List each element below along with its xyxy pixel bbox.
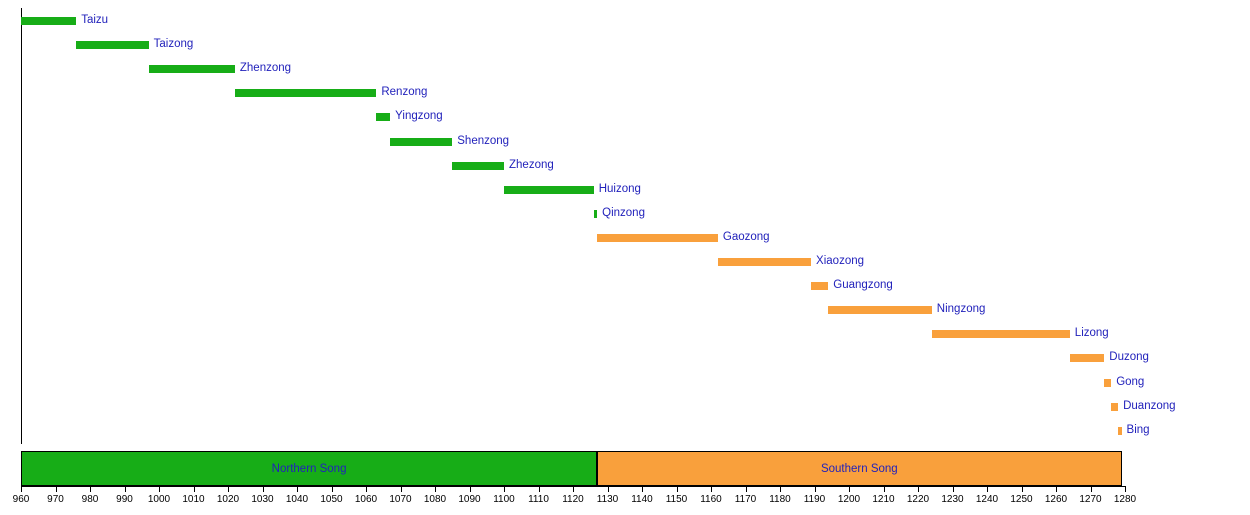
reign-row: Duzong: [0, 349, 1250, 367]
reign-label-qinzong: Qinzong: [602, 206, 645, 221]
x-axis-tick: [470, 486, 471, 492]
reign-label-gaozong: Gaozong: [723, 230, 770, 245]
reign-label-shenzong: Shenzong: [457, 134, 509, 149]
x-axis-tick: [435, 486, 436, 492]
reign-label-duanzong: Duanzong: [1123, 399, 1175, 414]
reign-label-xiaozong: Xiaozong: [816, 254, 864, 269]
reign-row: Gaozong: [0, 229, 1250, 247]
reign-bar-qinzong[interactable]: [594, 210, 597, 218]
reign-bar-gong[interactable]: [1104, 379, 1111, 387]
reign-label-lizong: Lizong: [1075, 326, 1109, 341]
reign-row: Ningzong: [0, 301, 1250, 319]
x-axis-tick: [159, 486, 160, 492]
x-axis-tick: [987, 486, 988, 492]
reign-label-zhenzong: Zhenzong: [240, 61, 291, 76]
x-axis-tick: [228, 486, 229, 492]
x-axis-tick: [1125, 486, 1126, 492]
x-axis-tick: [642, 486, 643, 492]
x-axis-tick: [746, 486, 747, 492]
reign-label-yingzong: Yingzong: [395, 109, 443, 124]
x-axis-tick-label: 960: [13, 494, 30, 505]
x-axis-tick: [1056, 486, 1057, 492]
reign-label-gong: Gong: [1116, 375, 1144, 390]
x-axis-tick: [194, 486, 195, 492]
reign-row: Renzong: [0, 84, 1250, 102]
reign-label-guangzong: Guangzong: [833, 278, 892, 293]
reign-bar-taizu[interactable]: [21, 17, 76, 25]
timeline-chart: 9609709809901000101010201030104010501060…: [0, 0, 1250, 515]
x-axis-tick-label: 1140: [631, 494, 653, 505]
plot-area: 9609709809901000101010201030104010501060…: [0, 0, 1250, 515]
x-axis-tick-label: 1230: [941, 494, 963, 505]
x-axis-tick: [849, 486, 850, 492]
reign-row: Zhenzong: [0, 60, 1250, 78]
x-axis-tick-label: 1260: [1045, 494, 1067, 505]
x-axis-tick: [366, 486, 367, 492]
reign-label-renzong: Renzong: [381, 85, 427, 100]
x-axis-tick: [677, 486, 678, 492]
x-axis-tick-label: 1060: [355, 494, 377, 505]
x-axis-tick-label: 990: [116, 494, 133, 505]
reign-label-ningzong: Ningzong: [937, 302, 986, 317]
x-axis-tick-label: 1220: [907, 494, 929, 505]
reign-row: Shenzong: [0, 133, 1250, 151]
x-axis-tick-label: 1280: [1114, 494, 1136, 505]
x-axis-tick-label: 1120: [562, 494, 584, 505]
x-axis-tick-label: 1040: [286, 494, 308, 505]
x-axis-tick-label: 1170: [735, 494, 757, 505]
x-axis-tick-label: 1240: [976, 494, 998, 505]
reign-bar-shenzong[interactable]: [390, 138, 452, 146]
x-axis-tick-label: 1110: [528, 494, 549, 505]
reign-label-zhezong: Zhezong: [509, 158, 554, 173]
x-axis-tick-label: 1250: [1010, 494, 1032, 505]
reign-label-bing: Bing: [1127, 423, 1150, 438]
x-axis-tick-label: 1020: [217, 494, 239, 505]
x-axis-tick-label: 1100: [493, 494, 515, 505]
reign-label-taizong: Taizong: [154, 37, 194, 52]
reign-bar-yingzong[interactable]: [376, 113, 390, 121]
dynasty-band-northern-song[interactable]: Northern Song: [21, 451, 597, 486]
reign-bar-xiaozong[interactable]: [718, 258, 811, 266]
x-axis-tick: [1022, 486, 1023, 492]
x-axis-tick-label: 1070: [389, 494, 411, 505]
reign-bar-taizong[interactable]: [76, 41, 148, 49]
reign-bar-renzong[interactable]: [235, 89, 376, 97]
x-axis-tick: [1091, 486, 1092, 492]
x-axis-tick-label: 1130: [597, 494, 619, 505]
reign-bar-huizong[interactable]: [504, 186, 594, 194]
x-axis-tick-label: 1050: [320, 494, 342, 505]
x-axis-tick: [401, 486, 402, 492]
dynasty-band-southern-song[interactable]: Southern Song: [597, 451, 1121, 486]
x-axis-tick: [504, 486, 505, 492]
reign-bar-gaozong[interactable]: [597, 234, 718, 242]
reign-row: Yingzong: [0, 108, 1250, 126]
x-axis-tick-label: 1190: [804, 494, 826, 505]
x-axis-tick-label: 980: [82, 494, 99, 505]
x-axis-tick: [711, 486, 712, 492]
reign-row: Duanzong: [0, 398, 1250, 416]
x-axis-tick: [56, 486, 57, 492]
reign-row: Xiaozong: [0, 253, 1250, 271]
reign-row: Gong: [0, 374, 1250, 392]
x-axis-tick: [297, 486, 298, 492]
dynasty-band-label: Southern Song: [821, 463, 898, 475]
x-axis-tick: [608, 486, 609, 492]
reign-bar-duanzong[interactable]: [1111, 403, 1118, 411]
x-axis-tick: [125, 486, 126, 492]
x-axis-tick-label: 1160: [700, 494, 722, 505]
reign-row: Guangzong: [0, 277, 1250, 295]
x-axis-tick: [918, 486, 919, 492]
x-axis-tick: [539, 486, 540, 492]
x-axis-tick-label: 1200: [838, 494, 860, 505]
reign-row: Zhezong: [0, 157, 1250, 175]
reign-bar-zhezong[interactable]: [452, 162, 504, 170]
reign-row: Huizong: [0, 181, 1250, 199]
reign-row: Qinzong: [0, 205, 1250, 223]
x-axis-tick-label: 1270: [1079, 494, 1101, 505]
x-axis-tick: [21, 486, 22, 492]
x-axis-tick: [884, 486, 885, 492]
x-axis-tick: [332, 486, 333, 492]
reign-row: Taizu: [0, 12, 1250, 30]
reign-bar-duzong[interactable]: [1070, 354, 1105, 362]
reign-row: Taizong: [0, 36, 1250, 54]
x-axis-tick-label: 1000: [148, 494, 170, 505]
x-axis-tick: [815, 486, 816, 492]
reign-bar-zhenzong[interactable]: [149, 65, 235, 73]
x-axis-tick: [90, 486, 91, 492]
x-axis-tick-label: 1180: [769, 494, 791, 505]
x-axis-tick-label: 1080: [424, 494, 446, 505]
reign-label-taizu: Taizu: [81, 13, 108, 28]
reign-bar-bing[interactable]: [1118, 427, 1121, 435]
x-axis-tick-label: 1010: [182, 494, 204, 505]
x-axis-tick-label: 1090: [458, 494, 480, 505]
x-axis-tick-label: 1030: [251, 494, 273, 505]
reign-label-huizong: Huizong: [599, 182, 641, 197]
x-axis-tick: [573, 486, 574, 492]
reign-row: Bing: [0, 422, 1250, 440]
reign-row: Lizong: [0, 325, 1250, 343]
dynasty-band-label: Northern Song: [272, 463, 347, 475]
reign-bar-guangzong[interactable]: [811, 282, 828, 290]
x-axis-tick: [953, 486, 954, 492]
reign-bar-ningzong[interactable]: [828, 306, 932, 314]
x-axis-tick-label: 1210: [872, 494, 894, 505]
reign-label-duzong: Duzong: [1109, 350, 1149, 365]
reign-bar-lizong[interactable]: [932, 330, 1070, 338]
x-axis-tick: [263, 486, 264, 492]
x-axis-tick-label: 970: [47, 494, 64, 505]
x-axis-tick: [780, 486, 781, 492]
x-axis-tick-label: 1150: [666, 494, 688, 505]
